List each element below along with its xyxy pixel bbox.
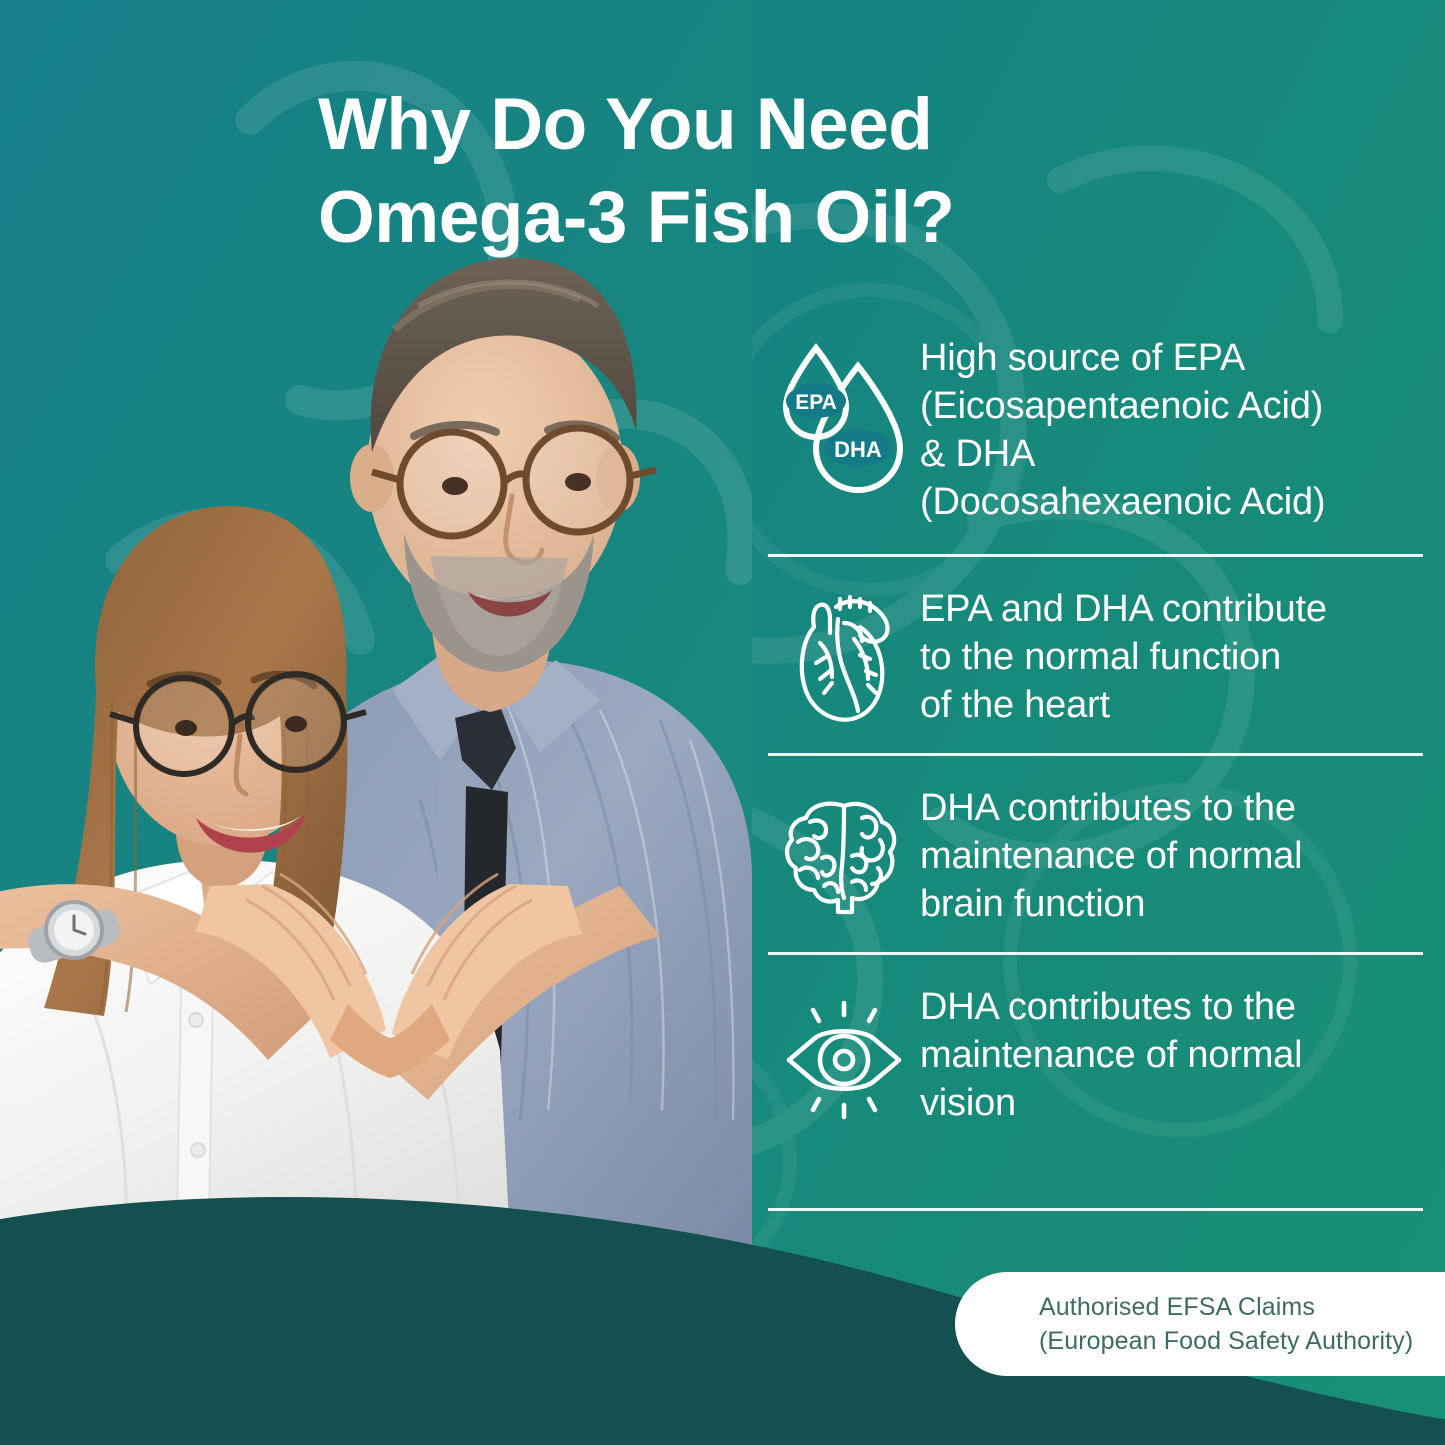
epa-dha-droplets-icon: EPA DHA [768,332,920,498]
benefit-line: DHA contributes to the [920,983,1423,1031]
benefit-line: maintenance of normal [920,1031,1423,1079]
brain-icon [768,782,920,918]
benefit-line: DHA contributes to the [920,784,1423,832]
benefit-text-vision: DHA contributes to the maintenance of no… [920,981,1423,1127]
epa-droplet-label: EPA [795,391,837,414]
eye-vision-icon [768,981,920,1123]
benefit-line: (Eicosapentaenoic Acid) [920,382,1423,430]
benefit-text-brain: DHA contributes to the maintenance of no… [920,782,1423,928]
benefit-item-epa-dha: EPA DHA High source of EPA (Eicosapentae… [768,318,1423,554]
efsa-claims-badge: Authorised EFSA Claims (European Food Sa… [955,1272,1445,1376]
benefit-line: (Docosahexaenoic Acid) [920,478,1423,526]
benefit-line: EPA and DHA contribute [920,585,1423,633]
dha-droplet-label: DHA [834,437,882,462]
benefit-item-brain: DHA contributes to the maintenance of no… [768,753,1423,952]
benefit-line: to the normal function [920,633,1423,681]
benefit-text-epa-dha: High source of EPA (Eicosapentaenoic Aci… [920,332,1423,526]
benefits-list: EPA DHA High source of EPA (Eicosapentae… [768,318,1423,1151]
benefit-line: maintenance of normal [920,832,1423,880]
benefit-item-heart: EPA and DHA contribute to the normal fun… [768,554,1423,753]
page-title: Why Do You Need Omega-3 Fish Oil? [318,78,1148,265]
efsa-badge-line-1: Authorised EFSA Claims [1039,1290,1445,1324]
benefit-line: of the heart [920,681,1423,729]
benefit-line: & DHA [920,430,1423,478]
benefit-item-vision: DHA contributes to the maintenance of no… [768,952,1423,1151]
page-title-line-2: Omega-3 Fish Oil? [318,171,1148,264]
anatomical-heart-icon [768,583,920,729]
benefit-line: vision [920,1079,1423,1127]
benefit-line: brain function [920,880,1423,928]
efsa-badge-line-2: (European Food Safety Authority) [1039,1324,1445,1358]
benefit-line: High source of EPA [920,334,1423,382]
benefits-bottom-divider [768,1208,1423,1211]
omega3-infographic-poster: Why Do You Need Omega-3 Fish Oil? EPA [0,0,1445,1445]
benefit-text-heart: EPA and DHA contribute to the normal fun… [920,583,1423,729]
page-title-line-1: Why Do You Need [318,78,1148,171]
